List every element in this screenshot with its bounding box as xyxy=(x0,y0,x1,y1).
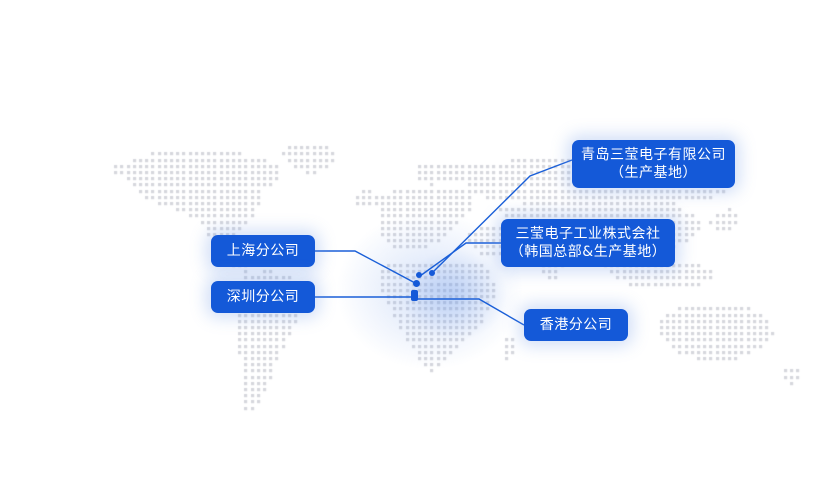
connector-hongkong xyxy=(416,299,524,325)
label-qingdao-line2: （生产基地） xyxy=(610,164,697,182)
label-korea-line2: （韩国总部&生产基地） xyxy=(510,243,666,261)
label-hongkong[interactable]: 香港分公司 xyxy=(524,309,628,341)
label-korea-line1: 三莹电子工业株式会社 xyxy=(516,225,661,243)
world-map-infographic: 青岛三莹电子有限公司 （生产基地） 三莹电子工业株式会社 （韩国总部&生产基地）… xyxy=(0,0,824,480)
connector-shanghai xyxy=(315,251,417,284)
label-korea-hq[interactable]: 三莹电子工业株式会社 （韩国总部&生产基地） xyxy=(501,219,675,267)
connector-lines xyxy=(0,0,824,480)
marker-korea[interactable] xyxy=(416,272,422,278)
label-qingdao-line1: 青岛三莹电子有限公司 xyxy=(581,146,726,164)
label-hongkong-line1: 香港分公司 xyxy=(540,316,613,334)
label-shenzhen-line1: 深圳分公司 xyxy=(227,288,300,306)
marker-shenzhen[interactable] xyxy=(411,290,418,301)
label-shanghai-line1: 上海分公司 xyxy=(227,242,300,260)
label-qingdao[interactable]: 青岛三莹电子有限公司 （生产基地） xyxy=(572,140,735,188)
marker-qingdao[interactable] xyxy=(429,270,435,276)
label-shanghai[interactable]: 上海分公司 xyxy=(211,235,315,267)
marker-shanghai[interactable] xyxy=(413,280,420,287)
label-shenzhen[interactable]: 深圳分公司 xyxy=(211,281,315,313)
